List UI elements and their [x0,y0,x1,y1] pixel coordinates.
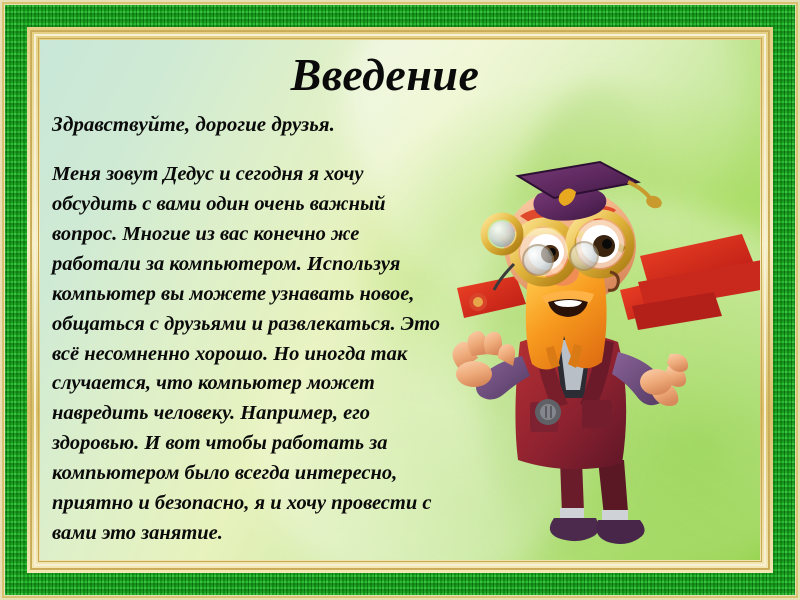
greeting-text: Здравствуйте, дорогие друзья. [52,112,335,137]
graduation-cap [518,162,664,221]
character-dedus-illustration [442,160,760,560]
presentation-slide: Введение Здравствуйте, дорогие друзья. М… [0,0,800,600]
page-title: Введение [40,48,760,101]
slide-content-area: Введение Здравствуйте, дорогие друзья. М… [40,40,760,560]
body-paragraph: Меня зовут Дедус и сегодня я хочу обсуди… [52,160,444,549]
legs [550,460,645,544]
